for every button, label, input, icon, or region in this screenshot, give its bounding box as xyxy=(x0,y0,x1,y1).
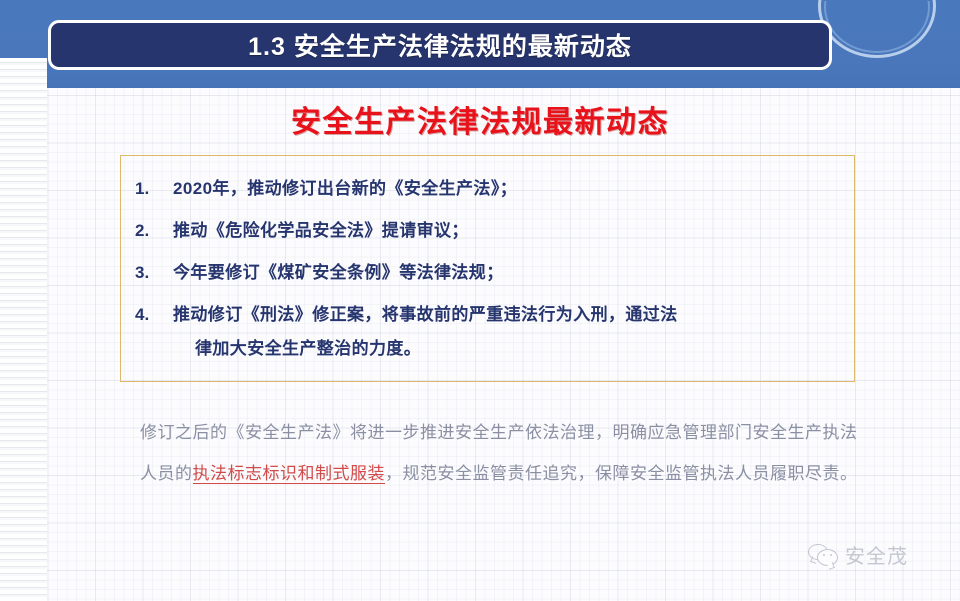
list-item: 3. 今年要修订《煤矿安全条例》等法律法规； xyxy=(135,256,840,290)
list-item-line-1: 推动修订《刑法》修正案，将事故前的严重违法行为入刑，通过法 xyxy=(173,305,678,324)
wechat-icon xyxy=(808,543,838,567)
list-item-label: 推动《危险化学品安全法》提请审议； xyxy=(173,214,469,248)
list-item-number: 2. xyxy=(135,214,173,248)
list-item-number: 4. xyxy=(135,298,173,332)
list-item-line-2: 律加大安全生产整治的力度。 xyxy=(173,332,678,366)
list-item: 1. 2020年，推动修订出台新的《安全生产法》； xyxy=(135,172,840,206)
list-item-number: 3. xyxy=(135,256,173,290)
paragraph-part-2: ，规范安全监管责任追究，保障安全监管执法人员履职尽责。 xyxy=(385,464,858,483)
page-title: 1.3 安全生产法律法规的最新动态 xyxy=(248,27,632,63)
numbered-list-box: 1. 2020年，推动修订出台新的《安全生产法》； 2. 推动《危险化学品安全法… xyxy=(120,155,855,382)
list-item: 2. 推动《危险化学品安全法》提请审议； xyxy=(135,214,840,248)
watermark: 安全茂 xyxy=(808,540,908,569)
list-item-label: 今年要修订《煤矿安全条例》等法律法规； xyxy=(173,256,504,290)
slide-subtitle: 安全生产法律法规最新动态 xyxy=(0,97,960,141)
list-item: 4. 推动修订《刑法》修正案，将事故前的严重违法行为入刑，通过法 律加大安全生产… xyxy=(135,298,840,366)
paragraph-highlight: 执法标志标识和制式服装 xyxy=(193,464,386,484)
list-item-label: 推动修订《刑法》修正案，将事故前的严重违法行为入刑，通过法 律加大安全生产整治的… xyxy=(173,298,678,366)
watermark-label: 安全茂 xyxy=(845,540,908,569)
left-stripe-decoration-top xyxy=(0,58,47,88)
list-item-label: 2020年，推动修订出台新的《安全生产法》； xyxy=(173,172,517,206)
list-item-number: 1. xyxy=(135,172,173,206)
slide-canvas: 1.3 安全生产法律法规的最新动态 安全生产法律法规最新动态 1. 2020年，… xyxy=(0,0,960,601)
body-paragraph: 修订之后的《安全生产法》将进一步推进安全生产依法治理，明确应急管理部门安全生产执… xyxy=(140,412,862,494)
slide-title-plate: 1.3 安全生产法律法规的最新动态 xyxy=(48,20,832,70)
